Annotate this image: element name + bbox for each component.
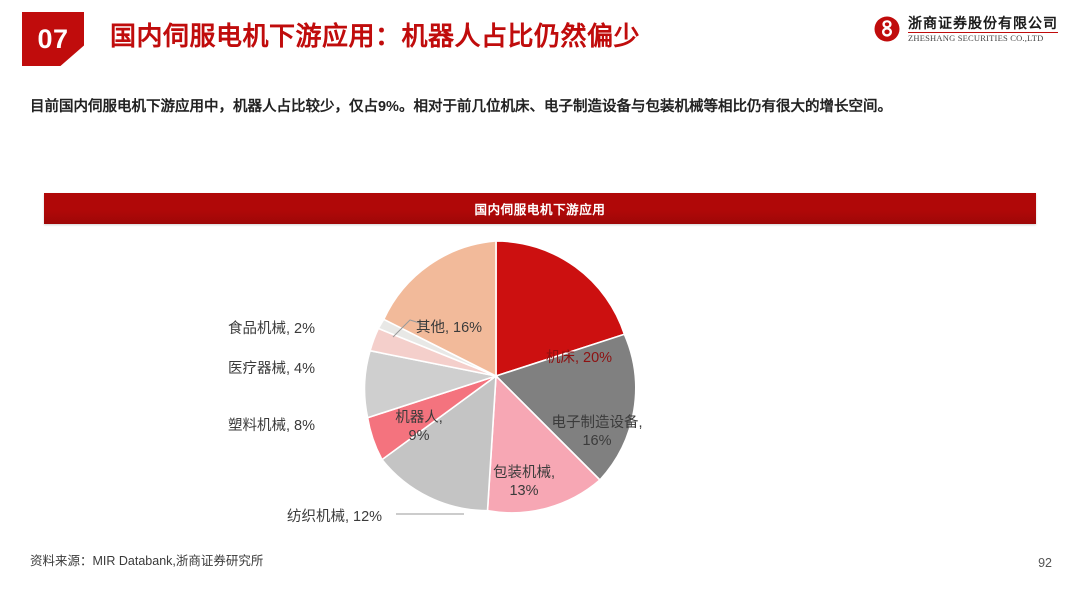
pie-label-shipin: 食品机械, 2% bbox=[228, 317, 315, 338]
pie-label-dianzizhizao-line1: 电子制造设备, bbox=[522, 414, 672, 432]
pie-label-fangzhi: 纺织机械, 12% bbox=[287, 505, 382, 526]
logo-company-name-en: ZHESHANG SECURITIES CO.,LTD bbox=[908, 34, 1058, 43]
zheshang-emblem-icon bbox=[874, 16, 900, 42]
logo-company-name-cn: 浙商证券股份有限公司 bbox=[908, 16, 1058, 31]
section-number-badge: 07 bbox=[22, 12, 84, 66]
pie-label-jichuang: 机床, 20% bbox=[514, 349, 644, 367]
pie-label-dianzizhizao: 电子制造设备, 16% bbox=[522, 414, 672, 450]
pie-label-baozhuang: 包装机械, 13% bbox=[464, 464, 584, 500]
pie-label-jiqiren: 机器人, 9% bbox=[374, 409, 464, 445]
pie-label-qita: 其他, 16% bbox=[394, 319, 504, 337]
page-number: 92 bbox=[1038, 556, 1052, 570]
company-logo: 浙商证券股份有限公司 ZHESHANG SECURITIES CO.,LTD bbox=[874, 16, 1058, 43]
source-note: 资料来源：MIR Databank,浙商证券研究所 bbox=[30, 550, 263, 569]
pie-label-suliao: 塑料机械, 8% bbox=[228, 414, 315, 435]
slide: 07 国内伺服电机下游应用：机器人占比仍然偏少 浙商证券股份有限公司 ZHESH… bbox=[0, 0, 1080, 608]
chart-title-bar: 国内伺服电机下游应用 bbox=[44, 193, 1036, 224]
pie-label-jiqiren-line2: 9% bbox=[374, 427, 464, 445]
pie-label-jiqiren-line1: 机器人, bbox=[374, 409, 464, 427]
pie-label-yiliao: 医疗器械, 4% bbox=[228, 357, 315, 378]
pie-label-baozhuang-line1: 包装机械, bbox=[464, 464, 584, 482]
chart-container: 国内伺服电机下游应用 bbox=[44, 193, 1036, 533]
page-title: 国内伺服电机下游应用：机器人占比仍然偏少 bbox=[110, 16, 640, 53]
pie-label-dianzizhizao-line2: 16% bbox=[522, 432, 672, 450]
logo-text-block: 浙商证券股份有限公司 ZHESHANG SECURITIES CO.,LTD bbox=[908, 16, 1058, 43]
body-paragraph: 目前国内伺服电机下游应用中，机器人占比较少，仅占9%。相对于前几位机床、电子制造… bbox=[30, 96, 1052, 120]
slide-header: 07 国内伺服电机下游应用：机器人占比仍然偏少 浙商证券股份有限公司 ZHESH… bbox=[0, 0, 1080, 78]
pie-label-baozhuang-line2: 13% bbox=[464, 482, 584, 500]
pie-chart: 机床, 20% 电子制造设备, 16% 包装机械, 13% 机器人, 9% 其他… bbox=[44, 224, 1036, 524]
